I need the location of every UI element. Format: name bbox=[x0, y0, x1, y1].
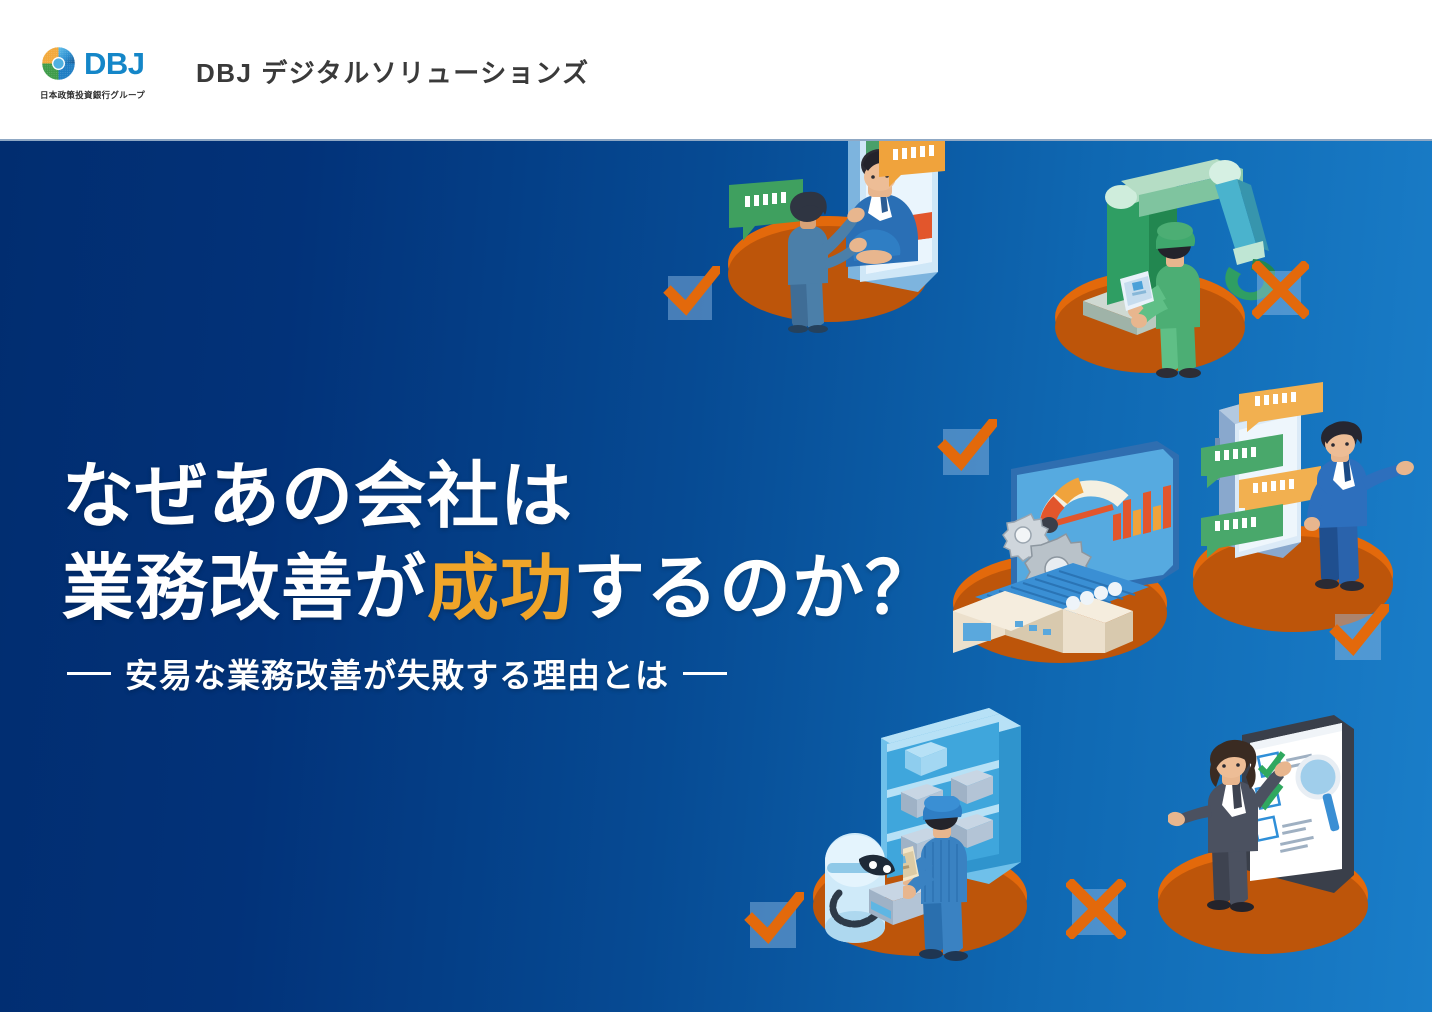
subtitle-text: 安易な業務改善が失敗する理由とは bbox=[125, 649, 669, 697]
check-icon-3 bbox=[1335, 614, 1381, 660]
dbj-globe-icon bbox=[40, 45, 77, 82]
scene-factory-analytics bbox=[935, 421, 1215, 671]
title-line-2: 業務改善が成功するのか？ bbox=[62, 543, 938, 635]
slide-page: DBJ 日本政策投資銀行グループ DBJ デジタルソリューションズ bbox=[0, 0, 1432, 1012]
check-icon-4 bbox=[750, 902, 796, 948]
dbj-logo[interactable]: DBJ 日本政策投資銀行グループ bbox=[40, 45, 168, 107]
scene-robot-arm bbox=[1035, 151, 1335, 381]
page-header: DBJ 日本政策投資銀行グループ DBJ デジタルソリューションズ bbox=[0, 0, 1432, 141]
title-line-2-after: するのか？ bbox=[573, 549, 938, 629]
subtitle-dash-right bbox=[683, 672, 727, 675]
check-icon-2 bbox=[943, 429, 989, 475]
title-line-1: なぜあの会社は bbox=[62, 451, 938, 543]
header-branding: DBJ 日本政策投資銀行グループ DBJ デジタルソリューションズ bbox=[40, 45, 590, 107]
dbj-wordmark: DBJ bbox=[84, 48, 145, 79]
title-line-2-before: 業務改善が bbox=[62, 549, 427, 629]
hero-subtitle: 安易な業務改善が失敗する理由とは bbox=[67, 649, 938, 697]
brand-title: DBJ デジタルソリューションズ bbox=[196, 53, 590, 90]
subtitle-dash-left bbox=[67, 672, 111, 675]
scene-checklist-review bbox=[1140, 711, 1390, 961]
scene-warehouse-robot bbox=[785, 706, 1065, 976]
hero-title-block: なぜあの会社は 業務改善が成功するのか？ 安易な業務改善が失敗する理由とは bbox=[62, 451, 938, 697]
cross-icon-2 bbox=[1072, 889, 1118, 935]
check-icon-1 bbox=[668, 276, 712, 320]
header-divider bbox=[0, 139, 1432, 141]
hero-section: なぜあの会社は 業務改善が成功するのか？ 安易な業務改善が失敗する理由とは bbox=[0, 141, 1432, 1012]
title-highlight-success: 成功 bbox=[427, 549, 573, 629]
scene-video-call bbox=[650, 141, 950, 361]
cross-icon-1 bbox=[1257, 271, 1301, 315]
dbj-tagline: 日本政策投資銀行グループ bbox=[40, 89, 168, 101]
scene-chat-messaging bbox=[1185, 386, 1432, 656]
